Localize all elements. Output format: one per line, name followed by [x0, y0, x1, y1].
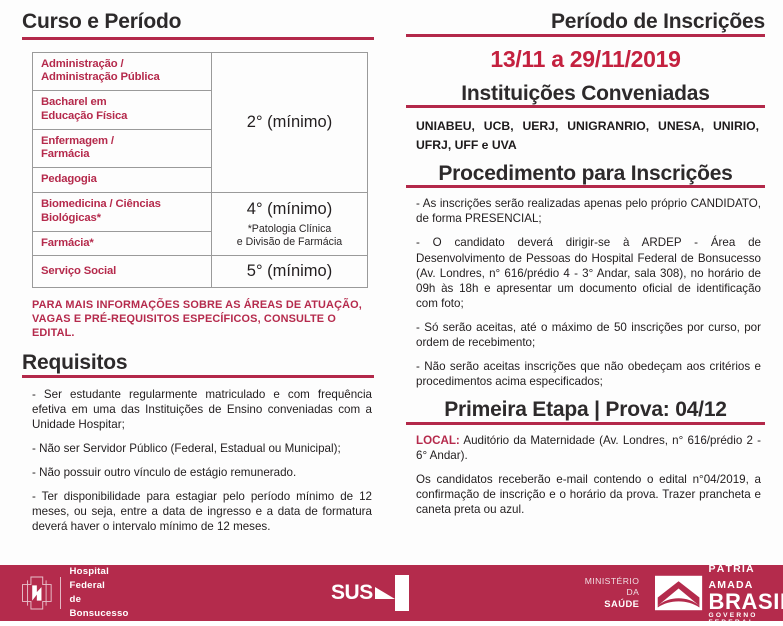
instituicoes-list: UNIABEU, UCB, UERJ, UNIGRANRIO, UNESA, U… [406, 117, 765, 155]
footer-bar: Hospital Federal de Bonsucesso SUS MINIS… [0, 565, 783, 621]
sus-cross-icon [375, 575, 409, 611]
hospital-logo-icon [20, 572, 54, 614]
hospital-brand: Hospital Federal de Bonsucesso [20, 565, 135, 621]
list-item: - As inscrições serão realizadas apenas … [416, 196, 761, 226]
hospital-name: Hospital Federal de Bonsucesso [70, 565, 136, 621]
requisitos-underline [22, 375, 374, 378]
instituicoes-underline [406, 105, 765, 108]
list-item: - Ser estudante regularmente matriculado… [32, 387, 372, 432]
brasil-arch-icon [655, 574, 702, 612]
local-line: LOCAL: Auditório da Maternidade (Av. Lon… [416, 433, 761, 463]
periodo-header: Período de Inscrições [406, 0, 765, 37]
left-column: Curso e Período Administração /Administr… [0, 0, 392, 565]
sus-label: SUS [331, 581, 373, 605]
table-row: Administração /Administração Pública 2° … [33, 52, 368, 91]
brasil-line-3: GOVERNO FEDERAL [709, 613, 783, 626]
instituicoes-title: Instituições Conveniadas [406, 82, 765, 106]
etapa-title: Primeira Etapa | Prova: 04/12 [406, 398, 765, 422]
courses-header: Curso e Período [22, 0, 374, 40]
governo-federal-logo: PÁTRIA AMADA BRASIL GOVERNO FEDERAL [655, 560, 783, 626]
table-row: Serviço Social 5° (mínimo) [33, 256, 368, 288]
hospital-line-1: Hospital Federal [70, 565, 136, 593]
procedimento-header: Procedimento para Inscrições [406, 162, 765, 189]
periodo-underline [406, 34, 765, 37]
course-cell: Serviço Social [33, 256, 212, 288]
course-cell: Administração /Administração Pública [33, 52, 212, 91]
course-cell: Enfermagem /Farmácia [33, 129, 212, 168]
title-underline [22, 37, 374, 40]
etapa-note: Os candidatos receberão e-mail contendo … [416, 472, 761, 517]
requisitos-list: - Ser estudante regularmente matriculado… [22, 387, 374, 535]
poster-page: Curso e Período Administração /Administr… [0, 0, 783, 621]
etapa-underline [406, 422, 765, 425]
list-item: - Só serão aceitas, até o máximo de 50 i… [416, 320, 761, 350]
course-cell: Bacharel emEducação Física [33, 91, 212, 130]
hospital-line-2: de Bonsucesso [70, 593, 136, 621]
table-row: Biomedicina / CiênciasBiológicas* 4° (mí… [33, 192, 368, 231]
course-cell: Pedagogia [33, 168, 212, 193]
period-value: 4° (mínimo) [247, 200, 332, 218]
list-item: - Não possuir outro vínculo de estágio r… [32, 465, 372, 480]
local-text: Auditório da Maternidade (Av. Londres, n… [416, 434, 761, 462]
ministerio-saude-logo: MINISTÉRIO DA SAÚDE [585, 576, 640, 609]
procedimento-title: Procedimento para Inscrições [406, 162, 765, 186]
brasil-line-2: BRASIL [709, 591, 783, 613]
inscricoes-date: 13/11 a 29/11/2019 [406, 46, 765, 73]
brasil-line-1: PÁTRIA AMADA [709, 563, 755, 591]
period-note: *Patologia Clínicae Divisão de Farmácia [220, 223, 359, 249]
ministerio-line-2: SAÚDE [585, 598, 640, 610]
brand-divider [60, 577, 61, 609]
instituicoes-header: Instituições Conveniadas [406, 82, 765, 109]
right-column: Período de Inscrições 13/11 a 29/11/2019… [392, 0, 783, 565]
list-item: - Não ser Servidor Público (Federal, Est… [32, 441, 372, 456]
local-label: LOCAL: [416, 434, 460, 447]
requisitos-header: Requisitos [22, 351, 374, 378]
period-cell: 2° (mínimo) [212, 52, 368, 192]
list-item: - Ter disponibilidade para estagiar pelo… [32, 489, 372, 534]
requisitos-title: Requisitos [22, 351, 374, 375]
course-cell: Biomedicina / CiênciasBiológicas* [33, 192, 212, 231]
period-cell: 4° (mínimo)*Patologia Clínicae Divisão d… [212, 192, 368, 255]
procedimento-list: - As inscrições serão realizadas apenas … [406, 196, 765, 389]
period-cell: 5° (mínimo) [212, 256, 368, 288]
list-item: - O candidato deverá dirigir-se à ARDEP … [416, 235, 761, 310]
procedimento-underline [406, 185, 765, 188]
sus-logo: SUS [331, 575, 409, 611]
etapa-header: Primeira Etapa | Prova: 04/12 [406, 398, 765, 425]
page-title: Curso e Período [22, 10, 374, 34]
list-item: - Não serão aceitas inscrições que não o… [416, 359, 761, 389]
brasil-wordmark: PÁTRIA AMADA BRASIL GOVERNO FEDERAL [709, 560, 783, 626]
ministerio-line-1: MINISTÉRIO DA [585, 576, 640, 597]
etapa-body: LOCAL: Auditório da Maternidade (Av. Lon… [406, 433, 765, 517]
edital-notice: PARA MAIS INFORMAÇÕES SOBRE AS ÁREAS DE … [32, 298, 372, 341]
courses-table: Administração /Administração Pública 2° … [32, 52, 368, 288]
periodo-title: Período de Inscrições [406, 10, 765, 34]
course-cell: Farmácia* [33, 231, 212, 256]
